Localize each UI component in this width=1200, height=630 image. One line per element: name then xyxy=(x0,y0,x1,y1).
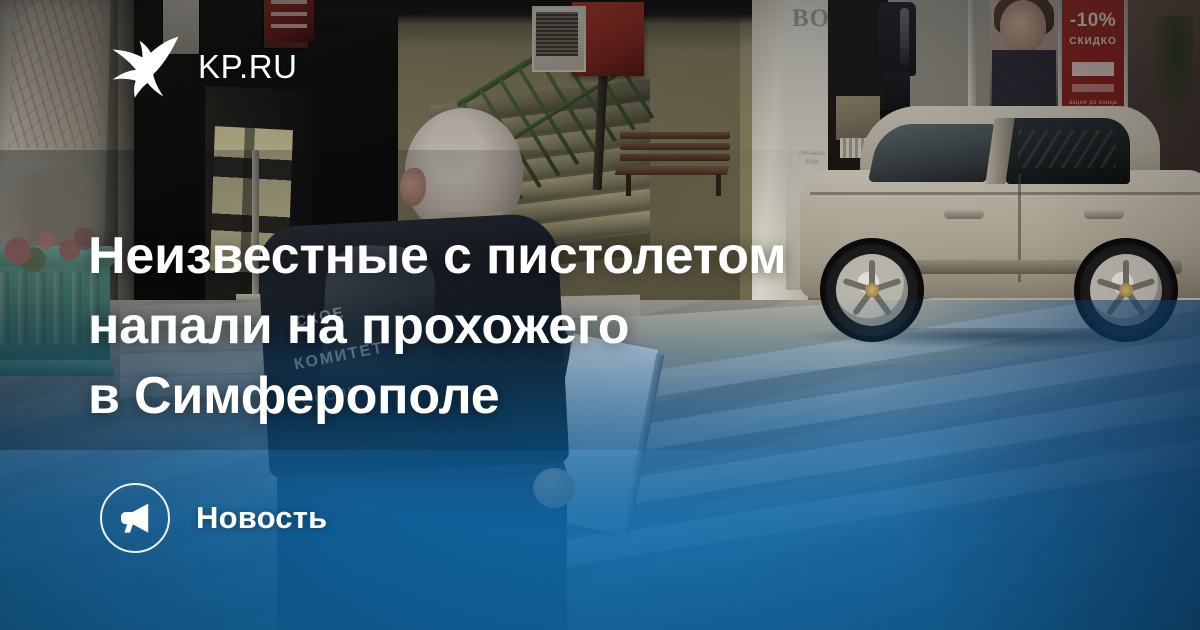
photo-flowers xyxy=(0,214,102,276)
page-title: Неизвестные с пистолетом напали на прохо… xyxy=(88,221,928,431)
poster-line xyxy=(271,12,307,16)
fire-cabinet-grille xyxy=(536,12,578,56)
bench-slat xyxy=(620,154,730,161)
badge-icon-circle xyxy=(100,483,170,553)
figure-hand xyxy=(533,468,575,508)
poster-model-face xyxy=(1000,0,1046,52)
pillar-graffiti xyxy=(9,0,105,148)
bench-slat xyxy=(620,132,730,139)
car-rear-window xyxy=(1006,118,1130,184)
headline-line-2: напали на прохожего xyxy=(88,291,928,361)
car-wheel-rim xyxy=(1090,254,1162,326)
photo-bench xyxy=(620,132,730,190)
sale-word-text: СКИДКО xyxy=(1062,36,1124,47)
car-front-window xyxy=(868,124,998,182)
sale-poster-chip xyxy=(1072,62,1114,76)
planter-flute xyxy=(18,270,27,346)
planter-flute xyxy=(72,270,81,346)
swallow-bird-icon xyxy=(108,33,180,99)
bench-leg xyxy=(626,174,631,196)
car-window-reflection xyxy=(1018,130,1116,168)
headline-line-3: в Симферополе xyxy=(88,361,928,431)
brand-lockup[interactable]: KP.RU xyxy=(108,33,298,99)
bench-seat xyxy=(615,166,730,175)
brand-name: KP.RU xyxy=(198,50,298,83)
rim-hub xyxy=(1119,283,1133,297)
car-door-handle xyxy=(944,210,984,219)
planter-flute xyxy=(0,270,9,346)
megaphone-icon xyxy=(118,501,152,535)
poster-line xyxy=(271,24,307,28)
photo-fire-cabinet xyxy=(572,2,644,76)
photo-ceiling-soffit xyxy=(150,0,850,24)
bench-slat xyxy=(620,143,730,150)
figure-ear xyxy=(400,168,426,206)
category-badge[interactable]: Новость xyxy=(100,483,327,553)
planter-flute xyxy=(54,270,63,346)
badge-label: Новость xyxy=(196,500,327,536)
pedestrian-coat-sheen xyxy=(900,8,909,66)
planter-flute xyxy=(36,270,45,346)
pedestrian-coat xyxy=(878,2,916,76)
poster-line xyxy=(271,0,307,4)
car-beltline xyxy=(810,192,1200,195)
headline-line-1: Неизвестные с пистолетом xyxy=(88,221,928,291)
sale-percent-text: -10% xyxy=(1062,10,1124,32)
bench-leg xyxy=(716,174,721,196)
car-rear-wheel xyxy=(1074,238,1178,342)
social-share-card: ВОДА питьевая вода -10% СКИДКО акция до … xyxy=(0,0,1200,630)
car-door-handle xyxy=(1084,210,1124,219)
